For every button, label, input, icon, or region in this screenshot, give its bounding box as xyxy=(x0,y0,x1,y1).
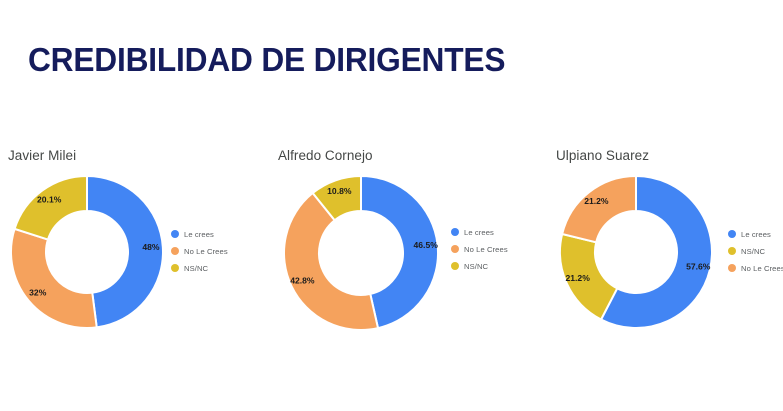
page-title: CREDIBILIDAD DE DIRIGENTES xyxy=(28,40,505,80)
legend-color-swatch-icon xyxy=(728,247,736,255)
legend-color-swatch-icon xyxy=(451,228,459,236)
legend-label: Le crees xyxy=(464,228,494,237)
slice-value-label: 57.6% xyxy=(686,261,711,271)
slice-value-label: 20.1% xyxy=(37,195,62,205)
legend-item[interactable]: NS/NC xyxy=(171,261,228,275)
legend-label: No Le Crees xyxy=(464,245,508,254)
slice-value-label: 32% xyxy=(29,287,47,297)
legend-label: NS/NC xyxy=(741,247,765,256)
legend-label: NS/NC xyxy=(184,264,208,273)
legend-item[interactable]: No Le Crees xyxy=(728,261,783,275)
legend-item[interactable]: NS/NC xyxy=(451,259,508,273)
legend-color-swatch-icon xyxy=(171,264,179,272)
chart-legend: Le creesNo Le CreesNS/NC xyxy=(171,227,228,278)
slice-value-label: 10.8% xyxy=(327,186,352,196)
legend-item[interactable]: NS/NC xyxy=(728,244,783,258)
legend-label: Le crees xyxy=(184,230,214,239)
donut-chart[interactable]: 48%32%20.1% xyxy=(5,170,169,334)
legend-item[interactable]: Le crees xyxy=(171,227,228,241)
legend-item[interactable]: Le crees xyxy=(728,227,783,241)
legend-color-swatch-icon xyxy=(728,230,736,238)
chart-title: Javier Milei xyxy=(8,148,76,163)
charts-row: Javier Milei48%32%20.1%Le creesNo Le Cre… xyxy=(0,130,783,400)
slice-value-label: 46.5% xyxy=(414,240,439,250)
chart-legend: Le creesNo Le CreesNS/NC xyxy=(451,225,508,276)
donut-slice[interactable] xyxy=(11,229,97,328)
chart-panel: Javier Milei48%32%20.1%Le creesNo Le Cre… xyxy=(0,130,261,400)
legend-label: NS/NC xyxy=(464,262,488,271)
legend-item[interactable]: No Le Crees xyxy=(171,244,228,258)
legend-label: Le crees xyxy=(741,230,771,239)
slice-value-label: 42.8% xyxy=(290,276,315,286)
chart-legend: Le creesNS/NCNo Le Crees xyxy=(728,227,783,278)
legend-color-swatch-icon xyxy=(171,247,179,255)
slice-value-label: 21.2% xyxy=(565,273,590,283)
donut-chart[interactable]: 57.6%21.2%21.2% xyxy=(554,170,718,334)
slice-value-label: 48% xyxy=(142,242,160,252)
legend-color-swatch-icon xyxy=(451,245,459,253)
donut-slice[interactable] xyxy=(562,176,636,242)
legend-item[interactable]: Le crees xyxy=(451,225,508,239)
legend-color-swatch-icon xyxy=(728,264,736,272)
legend-label: No Le Crees xyxy=(184,247,228,256)
chart-title: Ulpiano Suarez xyxy=(556,148,649,163)
legend-label: No Le Crees xyxy=(741,264,783,273)
slice-value-label: 21.2% xyxy=(584,196,609,206)
chart-panel: Alfredo Cornejo46.5%42.8%10.8%Le creesNo… xyxy=(261,130,542,400)
legend-item[interactable]: No Le Crees xyxy=(451,242,508,256)
donut-chart[interactable]: 46.5%42.8%10.8% xyxy=(278,170,444,336)
chart-title: Alfredo Cornejo xyxy=(278,148,373,163)
donut-slice[interactable] xyxy=(15,176,87,240)
chart-panel: Ulpiano Suarez57.6%21.2%21.2%Le creesNS/… xyxy=(542,130,783,400)
legend-color-swatch-icon xyxy=(451,262,459,270)
legend-color-swatch-icon xyxy=(171,230,179,238)
